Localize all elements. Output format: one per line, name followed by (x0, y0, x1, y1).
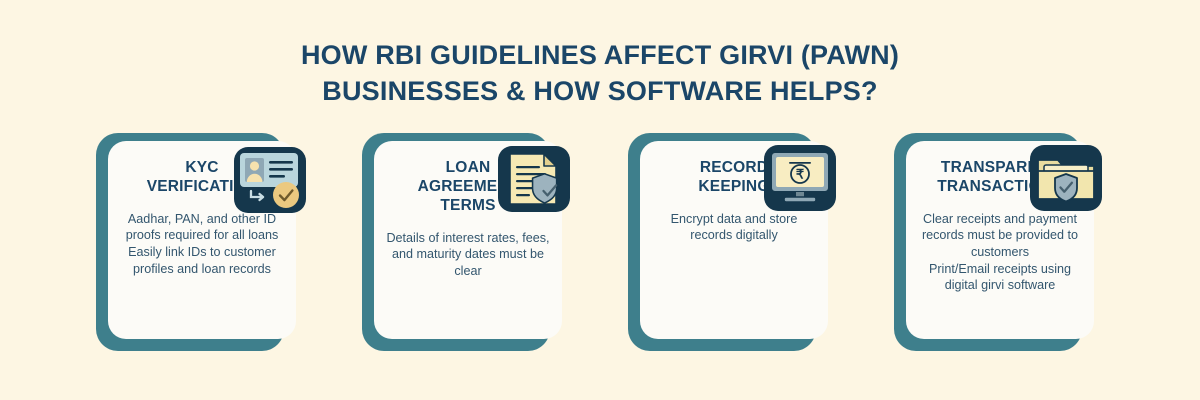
folder-shield-icon (1030, 145, 1102, 211)
monitor-rupee-icon: ₹ (764, 145, 836, 211)
document-shield-icon (498, 146, 570, 212)
card-kyc-verification[interactable]: KYC VERIFICATION Aadhar, PAN, and other … (96, 133, 306, 351)
card-transparent-transactions[interactable]: TRANSPARENT TRANSACTIONS Clear receipts … (894, 133, 1104, 351)
card-loan-agreement-terms[interactable]: LOAN AGREEMENT TERMS Details of interest… (362, 133, 572, 351)
card-body-line: Details of interest rates, fees, and mat… (382, 230, 554, 280)
card-body-line: Clear receipts and payment records must … (914, 211, 1086, 261)
page-title-line-1: HOW RBI GUIDELINES AFFECT GIRVI (PAWN) (0, 38, 1200, 74)
card-body-line: Encrypt data and store records digitally (648, 211, 820, 244)
page-title-line-2: BUSINESSES & HOW SOFTWARE HELPS? (0, 74, 1200, 110)
id-card-verified-icon (234, 147, 306, 213)
card-record-keeping[interactable]: RECORD KEEPING Encrypt data and store re… (628, 133, 838, 351)
card-body-line: Print/Email receipts using digital girvi… (914, 261, 1086, 294)
card-body-line: Easily link IDs to customer profiles and… (116, 244, 288, 277)
page-title: HOW RBI GUIDELINES AFFECT GIRVI (PAWN) B… (0, 38, 1200, 109)
cards-row: KYC VERIFICATION Aadhar, PAN, and other … (0, 133, 1200, 353)
svg-text:₹: ₹ (796, 167, 805, 182)
card-body-line: Aadhar, PAN, and other ID proofs require… (116, 211, 288, 244)
